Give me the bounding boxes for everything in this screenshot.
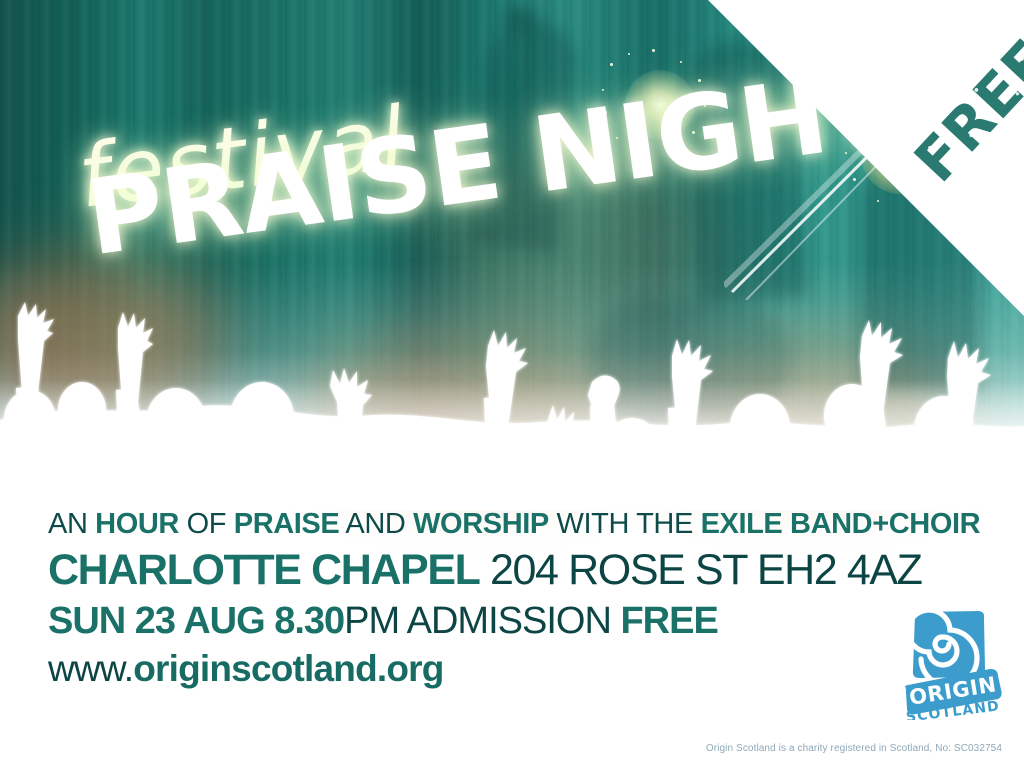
lineup-seg-an: AN bbox=[48, 508, 95, 540]
detail-line-datetime: SUN 23 AUG 8.30PM ADMISSION FREE bbox=[48, 598, 998, 644]
lineup-seg-and: AND bbox=[339, 508, 413, 540]
lineup-seg-worship: WORSHIP bbox=[413, 508, 549, 540]
lineup-seg-withthe: WITH THE bbox=[549, 508, 701, 540]
lineup-seg-of: OF bbox=[179, 508, 234, 540]
lineup-seg-band: EXILE BAND+CHOIR bbox=[701, 508, 981, 540]
venue-address: 204 ROSE ST EH2 4AZ bbox=[479, 546, 921, 594]
detail-line-website[interactable]: www.originscotland.org bbox=[48, 646, 998, 692]
event-details: AN HOUR OF PRAISE AND WORSHIP WITH THE E… bbox=[48, 505, 998, 692]
detail-line-venue: CHARLOTTE CHAPEL 204 ROSE ST EH2 4AZ bbox=[48, 545, 998, 595]
charity-registration-note: Origin Scotland is a charity registered … bbox=[706, 743, 1002, 754]
event-datetime: SUN 23 AUG 8.30 bbox=[48, 600, 344, 642]
lineup-seg-praise: PRAISE bbox=[234, 508, 340, 540]
website-prefix: www. bbox=[48, 648, 133, 689]
admission-price: FREE bbox=[620, 600, 717, 642]
poster-canvas: festival PRAISE NIGHT FREE AN HOUR OF PR… bbox=[0, 0, 1024, 768]
origin-scotland-logo[interactable]: ORIGIN SCOTLAND bbox=[897, 608, 1009, 720]
admission-label: PM ADMISSION bbox=[344, 600, 620, 642]
detail-line-lineup: AN HOUR OF PRAISE AND WORSHIP WITH THE E… bbox=[48, 505, 998, 543]
lineup-seg-hour: HOUR bbox=[95, 508, 179, 540]
website-domain: originscotland.org bbox=[133, 648, 443, 689]
venue-name: CHARLOTTE CHAPEL bbox=[48, 546, 479, 594]
